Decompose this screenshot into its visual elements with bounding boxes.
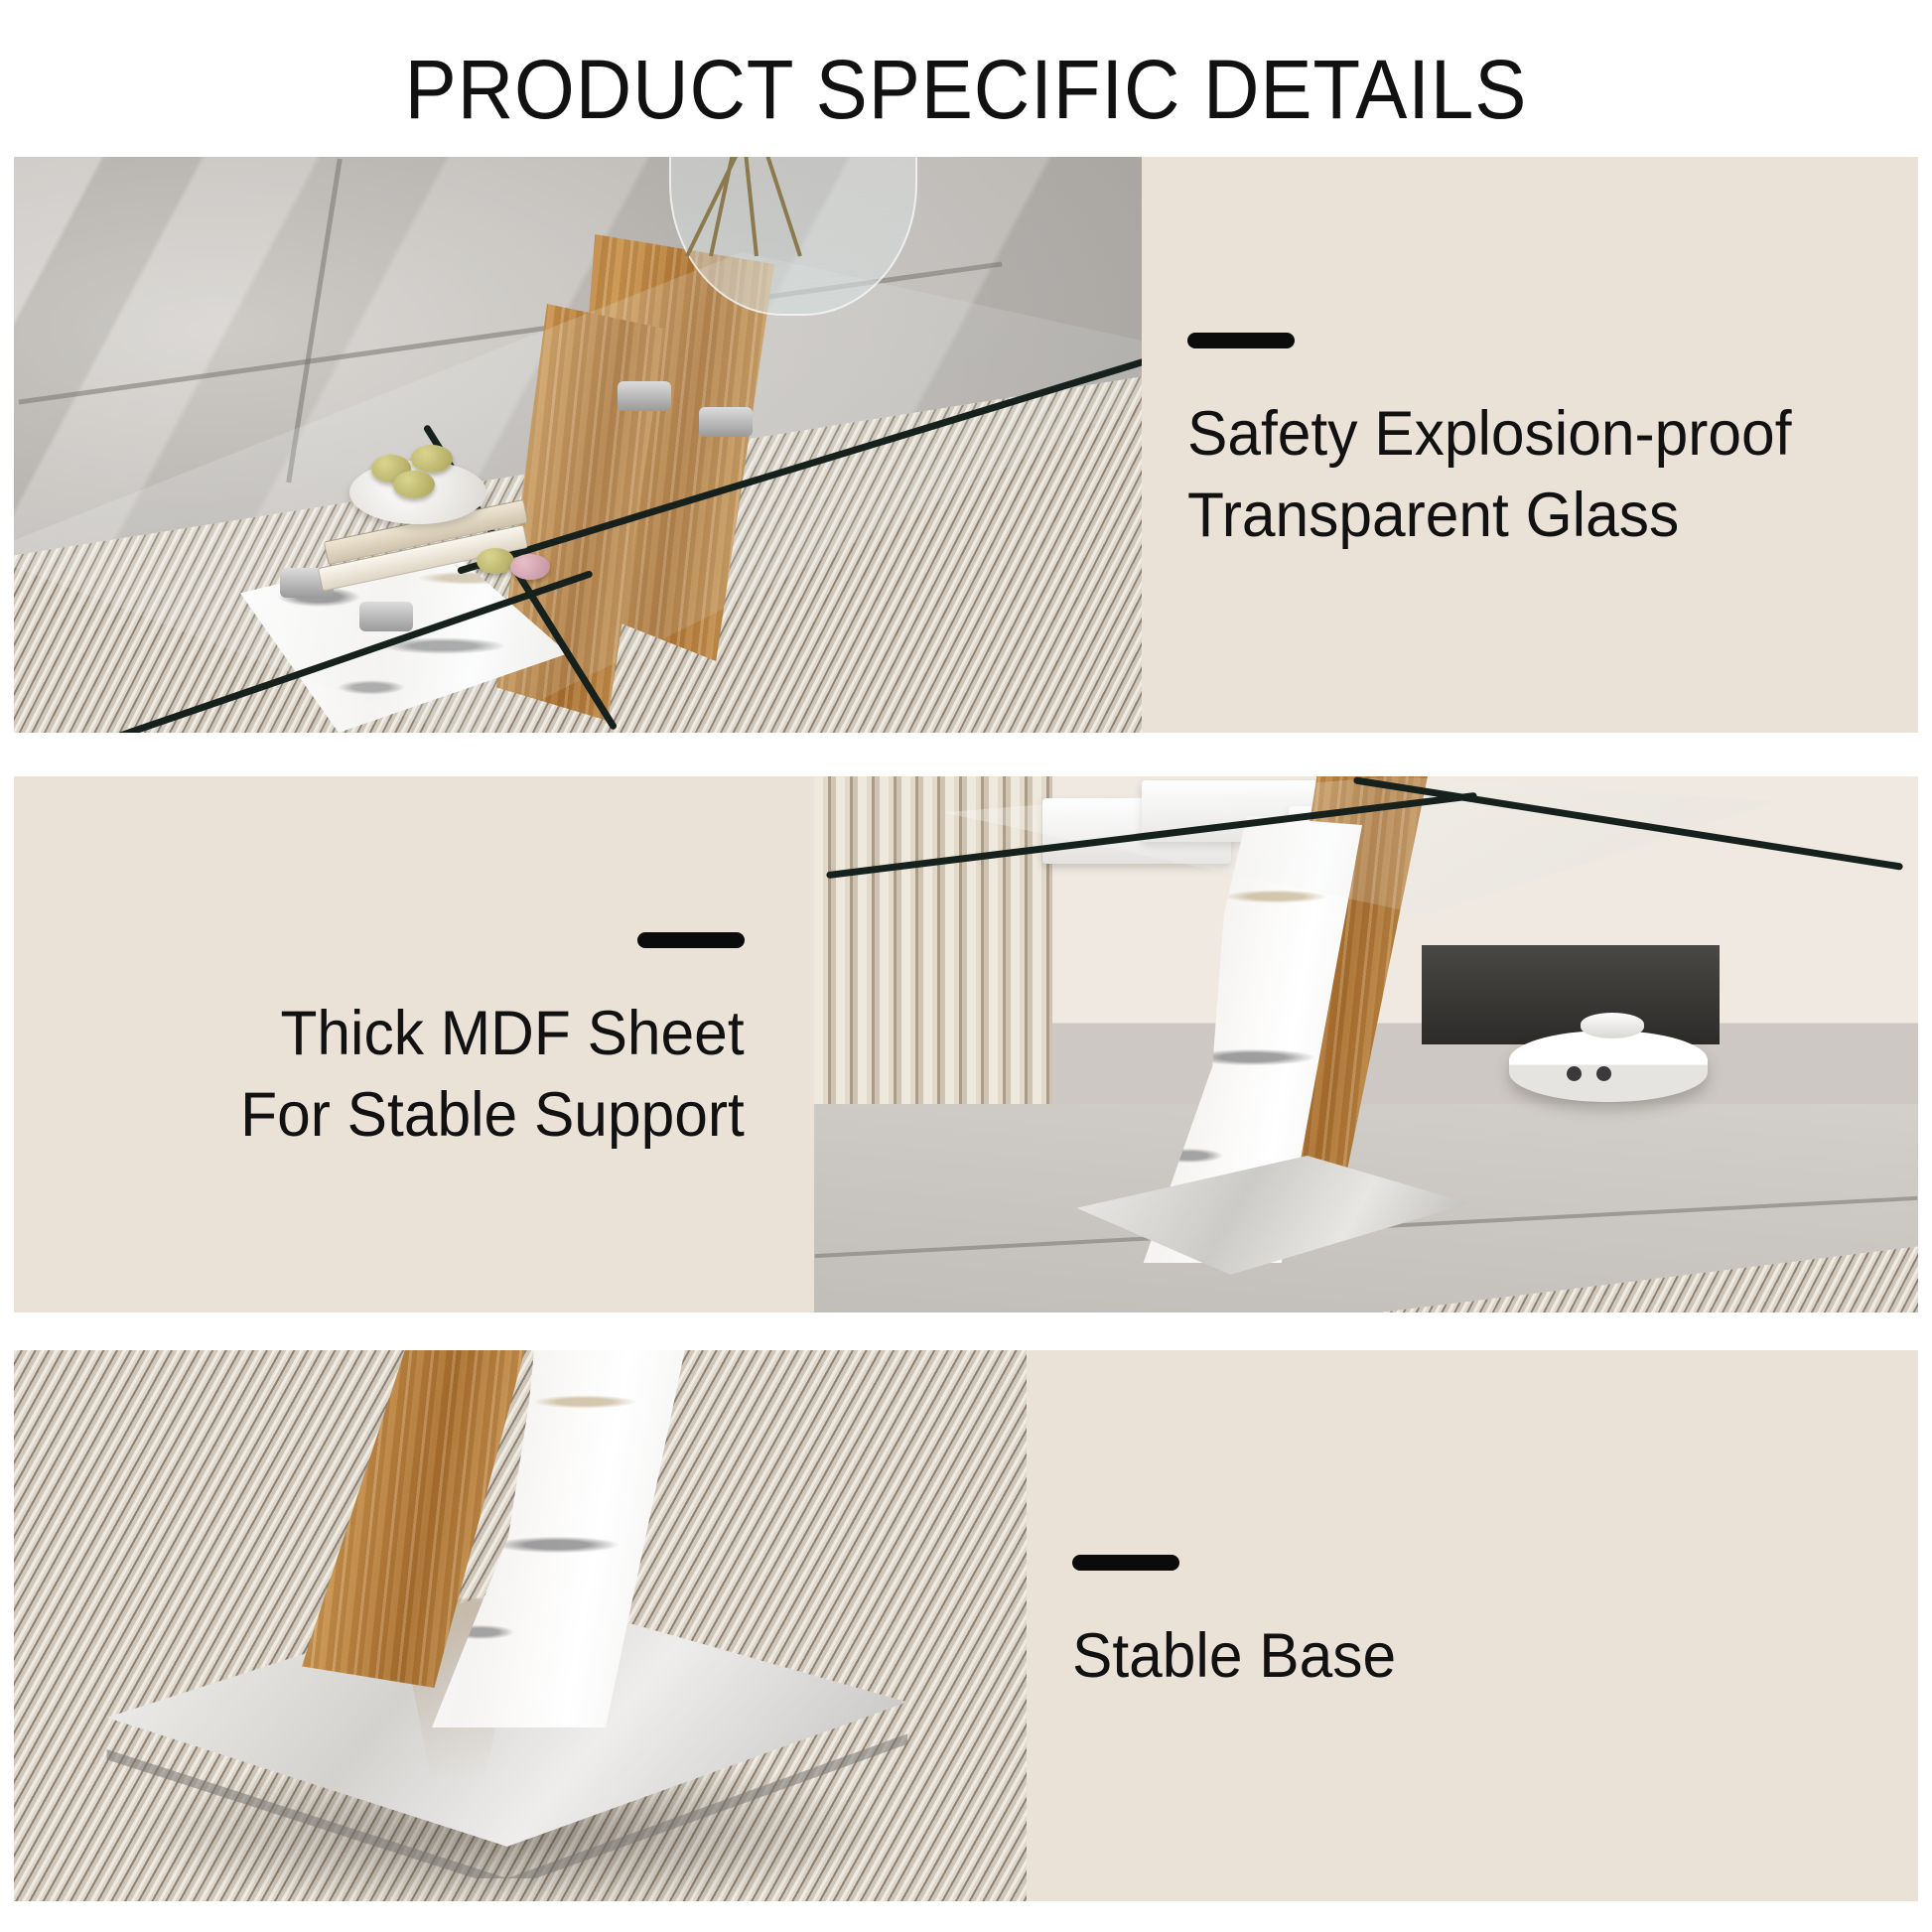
caption-line: Stable Base	[1072, 1616, 1396, 1698]
glass-mount-cap	[699, 407, 753, 437]
decor-macaron	[510, 554, 550, 580]
caption-glass: Safety Explosion-proof Transparent Glass	[1142, 157, 1918, 733]
detail-panel-base: Stable Base	[14, 1350, 1918, 1901]
photo-stable-base-closeup	[14, 1350, 1027, 1901]
robot-vacuum	[1509, 1031, 1708, 1102]
caption-line: Safety Explosion-proof	[1187, 394, 1792, 476]
detail-panel-glass: Safety Explosion-proof Transparent Glass	[14, 157, 1918, 733]
robot-vacuum-sensor	[1596, 1066, 1611, 1081]
robot-vacuum-lidar	[1581, 1013, 1644, 1038]
robot-vacuum-sensor	[1567, 1066, 1582, 1081]
caption-base: Stable Base	[1027, 1350, 1918, 1901]
decor-macaron	[411, 445, 453, 473]
furniture-recess-shadow	[1422, 945, 1720, 1044]
decor-macaron	[477, 548, 514, 574]
glass-mount-cap	[618, 381, 671, 411]
photo-glass-tabletop-closeup	[14, 157, 1142, 733]
caption-line: Thick MDF Sheet	[281, 994, 745, 1075]
accent-dash	[637, 932, 745, 948]
photo-mdf-pedestal-support-closeup	[814, 776, 1918, 1312]
glass-mount-cap	[359, 602, 413, 631]
decor-macaron	[393, 471, 435, 498]
detail-panel-mdf: Thick MDF Sheet For Stable Support	[14, 776, 1918, 1312]
caption-line: Transparent Glass	[1187, 476, 1679, 557]
page-title: PRODUCT SPECIFIC DETAILS	[68, 42, 1864, 138]
caption-mdf: Thick MDF Sheet For Stable Support	[14, 776, 814, 1312]
caption-line: For Stable Support	[240, 1075, 745, 1157]
product-details-page: PRODUCT SPECIFIC DETAILS	[0, 0, 1932, 1932]
accent-dash	[1072, 1555, 1179, 1571]
accent-dash	[1187, 333, 1295, 348]
